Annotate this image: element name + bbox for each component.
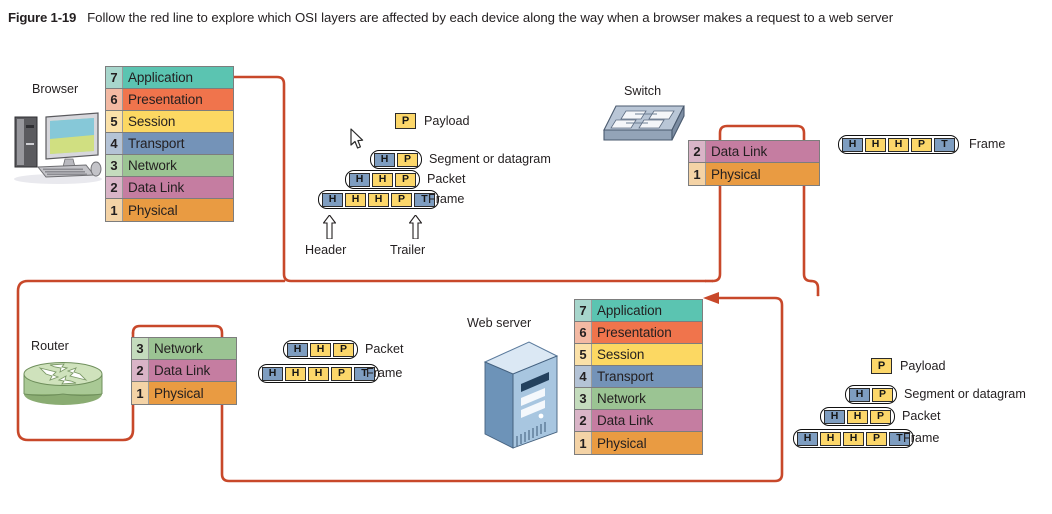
layer-4-transport[interactable]: 4Transport xyxy=(575,366,702,388)
layer-1-physical[interactable]: 1Physical xyxy=(132,382,236,404)
frame-label-router: Frame xyxy=(366,366,402,380)
layer-1-physical[interactable]: 1Physical xyxy=(689,163,819,185)
layer-7-application[interactable]: 7Application xyxy=(106,67,233,89)
header-cell: H xyxy=(262,367,283,381)
osi-stack-web-server: 7Application 6Presentation 5Session 4Tra… xyxy=(574,299,703,455)
frame-label-top: Frame xyxy=(428,192,464,206)
web-server-label: Web server xyxy=(467,316,531,330)
layer-number: 6 xyxy=(106,89,123,110)
layer-number: 2 xyxy=(132,360,149,381)
segment-pdu-bottom: H P xyxy=(845,385,897,404)
payload-cell: H xyxy=(888,138,909,152)
packet-label-top: Packet xyxy=(427,172,466,186)
layer-number: 2 xyxy=(689,141,706,162)
payload-cell: P xyxy=(331,367,352,381)
layer-name: Transport xyxy=(592,366,702,387)
layer-name: Data Link xyxy=(706,141,819,162)
payload-cell: P xyxy=(395,173,416,187)
payload-cell: H xyxy=(368,193,389,207)
layer-name: Application xyxy=(123,67,233,88)
layer-number: 1 xyxy=(106,199,123,221)
layer-number: 6 xyxy=(575,322,592,343)
payload-cell-top: P xyxy=(395,113,416,129)
header-cell: H xyxy=(842,138,863,152)
payload-cell: H xyxy=(843,432,864,446)
layer-name: Application xyxy=(592,300,702,321)
payload-cell: H xyxy=(310,343,331,357)
layer-3-network[interactable]: 3Network xyxy=(575,388,702,410)
packet-label-bottom: Packet xyxy=(902,409,941,423)
layer-name: Network xyxy=(123,155,233,176)
layer-1-physical[interactable]: 1Physical xyxy=(106,199,233,221)
layer-name: Network xyxy=(592,388,702,409)
layer-6-presentation[interactable]: 6Presentation xyxy=(575,322,702,344)
figure-caption: Figure 1-19 Follow the red line to explo… xyxy=(8,8,1038,28)
layer-number: 2 xyxy=(575,410,592,431)
layer-number: 5 xyxy=(106,111,123,132)
packet-label-router: Packet xyxy=(365,342,404,356)
layer-name: Session xyxy=(123,111,233,132)
header-cell: H xyxy=(374,153,395,167)
packet-pdu-top: H H P xyxy=(345,170,420,189)
layer-name: Data Link xyxy=(592,410,702,431)
layer-1-physical[interactable]: 1Physical xyxy=(575,432,702,454)
browser-label: Browser xyxy=(32,82,78,96)
layer-7-application[interactable]: 7Application xyxy=(575,300,702,322)
header-arrow-label: Header xyxy=(305,243,346,257)
layer-number: 2 xyxy=(106,177,123,198)
layer-name: Physical xyxy=(706,163,819,185)
payload-cell-bottom: P xyxy=(871,358,892,374)
layer-name: Physical xyxy=(149,382,236,404)
layer-number: 4 xyxy=(106,133,123,154)
layer-4-transport[interactable]: 4Transport xyxy=(106,133,233,155)
layer-2-data-link[interactable]: 2Data Link xyxy=(689,141,819,163)
layer-2-data-link[interactable]: 2Data Link xyxy=(106,177,233,199)
packet-pdu-bottom: H H P xyxy=(820,407,895,426)
layer-name: Data Link xyxy=(149,360,236,381)
trailer-cell: T xyxy=(934,138,955,152)
payload-label-top: Payload xyxy=(424,114,470,128)
header-cell: H xyxy=(797,432,818,446)
network-switch-icon xyxy=(602,100,690,150)
payload-cell: H xyxy=(285,367,306,381)
layer-name: Physical xyxy=(592,432,702,454)
layer-5-session[interactable]: 5Session xyxy=(106,111,233,133)
payload-cell: H xyxy=(847,410,868,424)
trailer-arrow-label: Trailer xyxy=(390,243,425,257)
layer-6-presentation[interactable]: 6Presentation xyxy=(106,89,233,111)
frame-pdu-switch: H H H P T xyxy=(838,135,959,154)
segment-label-top: Segment or datagram xyxy=(429,152,551,166)
layer-number: 4 xyxy=(575,366,592,387)
router-label: Router xyxy=(31,339,69,353)
payload-cell: H xyxy=(308,367,329,381)
payload-cell: P xyxy=(333,343,354,357)
packet-pdu-router: H H P xyxy=(283,340,358,359)
switch-label: Switch xyxy=(624,84,661,98)
mouse-pointer-icon xyxy=(350,128,365,150)
layer-number: 3 xyxy=(132,338,149,359)
header-cell: H xyxy=(824,410,845,424)
frame-label-bottom: Frame xyxy=(903,431,939,445)
header-cell: H xyxy=(849,388,870,402)
layer-number: 3 xyxy=(575,388,592,409)
header-cell: H xyxy=(349,173,370,187)
payload-label-bottom: Payload xyxy=(900,359,946,373)
layer-name: Data Link xyxy=(123,177,233,198)
layer-2-data-link[interactable]: 2Data Link xyxy=(575,410,702,432)
layer-number: 1 xyxy=(689,163,706,185)
header-cell: H xyxy=(287,343,308,357)
server-tower-icon xyxy=(477,340,563,450)
payload-cell: P xyxy=(397,153,418,167)
frame-pdu-bottom: H H H P T xyxy=(793,429,914,448)
payload-cell: P xyxy=(911,138,932,152)
layer-number: 7 xyxy=(575,300,592,321)
osi-stack-router: 3Network 2Data Link 1Physical xyxy=(131,337,237,405)
layer-3-network[interactable]: 3Network xyxy=(106,155,233,177)
segment-label-bottom: Segment or datagram xyxy=(904,387,1026,401)
payload-cell: P xyxy=(872,388,893,402)
layer-name: Physical xyxy=(123,199,233,221)
router-icon xyxy=(20,358,106,408)
frame-label-switch: Frame xyxy=(969,137,1005,151)
layer-number: 1 xyxy=(575,432,592,454)
frame-pdu-top: H H H P T xyxy=(318,190,439,209)
layer-name: Presentation xyxy=(592,322,702,343)
layer-5-session[interactable]: 5Session xyxy=(575,344,702,366)
segment-pdu-top: H P xyxy=(370,150,422,169)
desktop-computer-icon xyxy=(10,103,102,185)
layer-3-network[interactable]: 3Network xyxy=(132,338,236,360)
layer-name: Transport xyxy=(123,133,233,154)
payload-cell: H xyxy=(345,193,366,207)
layer-name: Session xyxy=(592,344,702,365)
figure-caption-text: Follow the red line to explore which OSI… xyxy=(87,10,893,25)
payload-cell: H xyxy=(372,173,393,187)
osi-stack-browser: 7Application 6Presentation 5Session 4Tra… xyxy=(105,66,234,222)
layer-number: 3 xyxy=(106,155,123,176)
payload-cell: H xyxy=(820,432,841,446)
header-up-arrow-icon xyxy=(323,215,336,239)
frame-pdu-router: H H H P T xyxy=(258,364,379,383)
payload-cell: P xyxy=(870,410,891,424)
payload-cell: P xyxy=(866,432,887,446)
layer-number: 5 xyxy=(575,344,592,365)
layer-2-data-link[interactable]: 2Data Link xyxy=(132,360,236,382)
layer-name: Network xyxy=(149,338,236,359)
figure-number: Figure 1-19 xyxy=(8,10,76,25)
header-cell: H xyxy=(322,193,343,207)
trailer-up-arrow-icon xyxy=(409,215,422,239)
layer-number: 7 xyxy=(106,67,123,88)
payload-cell: P xyxy=(391,193,412,207)
payload-cell: H xyxy=(865,138,886,152)
layer-name: Presentation xyxy=(123,89,233,110)
osi-stack-switch: 2Data Link 1Physical xyxy=(688,140,820,186)
layer-number: 1 xyxy=(132,382,149,404)
